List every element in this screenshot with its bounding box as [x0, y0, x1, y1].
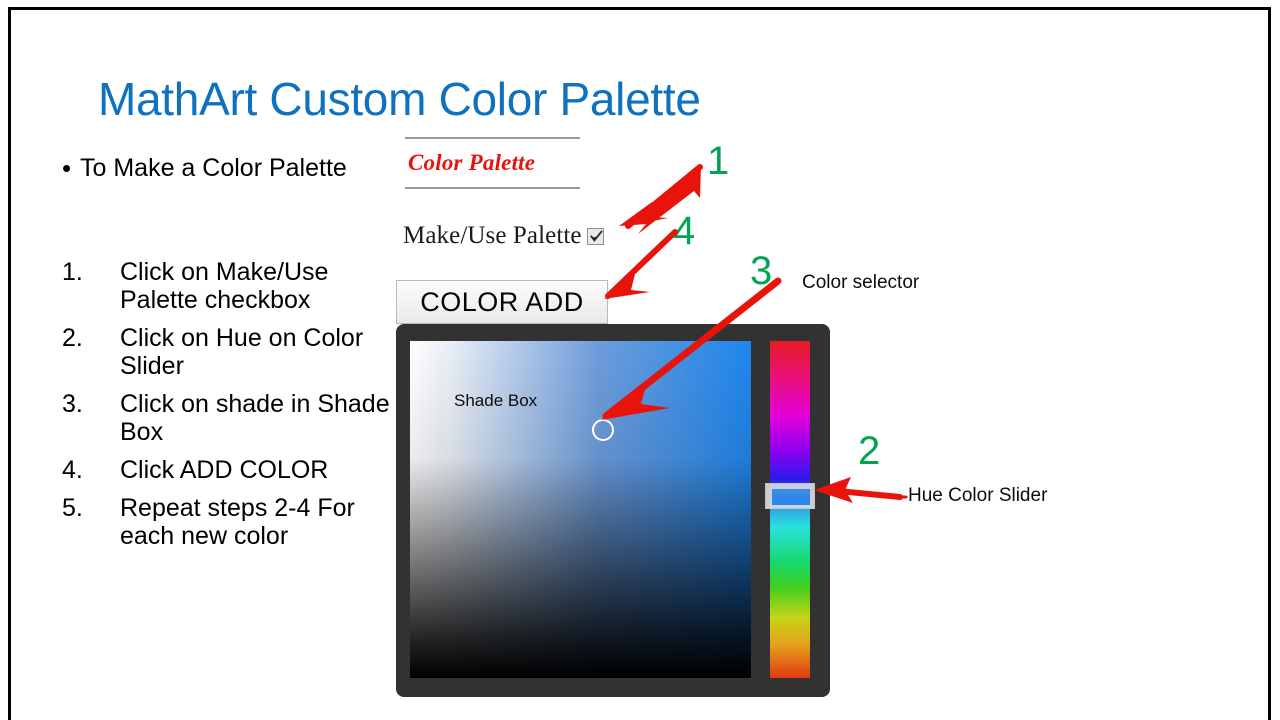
color-selector-callout-label: Color selector — [802, 272, 919, 294]
list-item: 3. Click on shade in Shade Box — [62, 390, 402, 446]
make-use-palette-row[interactable]: Make/Use Palette — [403, 222, 604, 250]
hue-color-slider-callout-label: Hue Color Slider — [908, 485, 1047, 507]
step-number: 3. — [62, 390, 120, 418]
list-item: 2. Click on Hue on Color Slider — [62, 324, 402, 380]
page-title: MathArt Custom Color Palette — [98, 72, 701, 126]
list-item: 5. Repeat steps 2-4 For each new color — [62, 494, 402, 550]
step-text: Repeat steps 2-4 For each new color — [120, 494, 402, 550]
hue-color-slider[interactable] — [770, 341, 810, 678]
annotation-number-4: 4 — [673, 211, 695, 251]
step-text: Click on shade in Shade Box — [120, 390, 402, 446]
annotation-arrow-4-icon — [604, 232, 675, 299]
instruction-steps-list: 1. Click on Make/Use Palette checkbox 2.… — [62, 258, 402, 560]
step-number: 5. — [62, 494, 120, 522]
list-item: • To Make a Color Palette — [62, 154, 392, 182]
step-number: 4. — [62, 456, 120, 484]
color-add-button[interactable]: COLOR ADD — [396, 280, 608, 324]
slide-canvas: MathArt Custom Color Palette • To Make a… — [0, 0, 1280, 720]
annotation-number-2: 2 — [858, 431, 880, 471]
make-use-palette-label: Make/Use Palette — [403, 222, 582, 250]
step-text: Click on Hue on Color Slider — [120, 324, 402, 380]
bullet-marker-icon: • — [62, 154, 80, 182]
hue-slider-thumb-swatch — [772, 489, 810, 505]
color-picker-panel: Shade Box — [396, 324, 830, 697]
make-use-palette-checkbox[interactable] — [587, 228, 604, 245]
annotation-number-3: 3 — [750, 251, 772, 291]
step-text: Click ADD COLOR — [120, 456, 328, 484]
color-palette-header: Color Palette — [405, 137, 580, 189]
step-number: 2. — [62, 324, 120, 352]
color-selector-ring[interactable] — [592, 419, 614, 441]
list-item: 1. Click on Make/Use Palette checkbox — [62, 258, 402, 314]
bullet-list: • To Make a Color Palette — [62, 154, 392, 182]
shade-box-label: Shade Box — [454, 391, 537, 411]
bullet-text: To Make a Color Palette — [80, 154, 347, 182]
step-text: Click on Make/Use Palette checkbox — [120, 258, 402, 314]
annotation-number-1: 1 — [707, 141, 729, 181]
hue-slider-thumb[interactable] — [765, 483, 815, 509]
checkmark-icon — [589, 229, 604, 244]
step-number: 1. — [62, 258, 120, 286]
shade-box[interactable]: Shade Box — [410, 341, 751, 678]
color-palette-caption: Color Palette — [405, 139, 580, 187]
list-item: 4. Click ADD COLOR — [62, 456, 402, 484]
divider-bottom — [405, 187, 580, 189]
